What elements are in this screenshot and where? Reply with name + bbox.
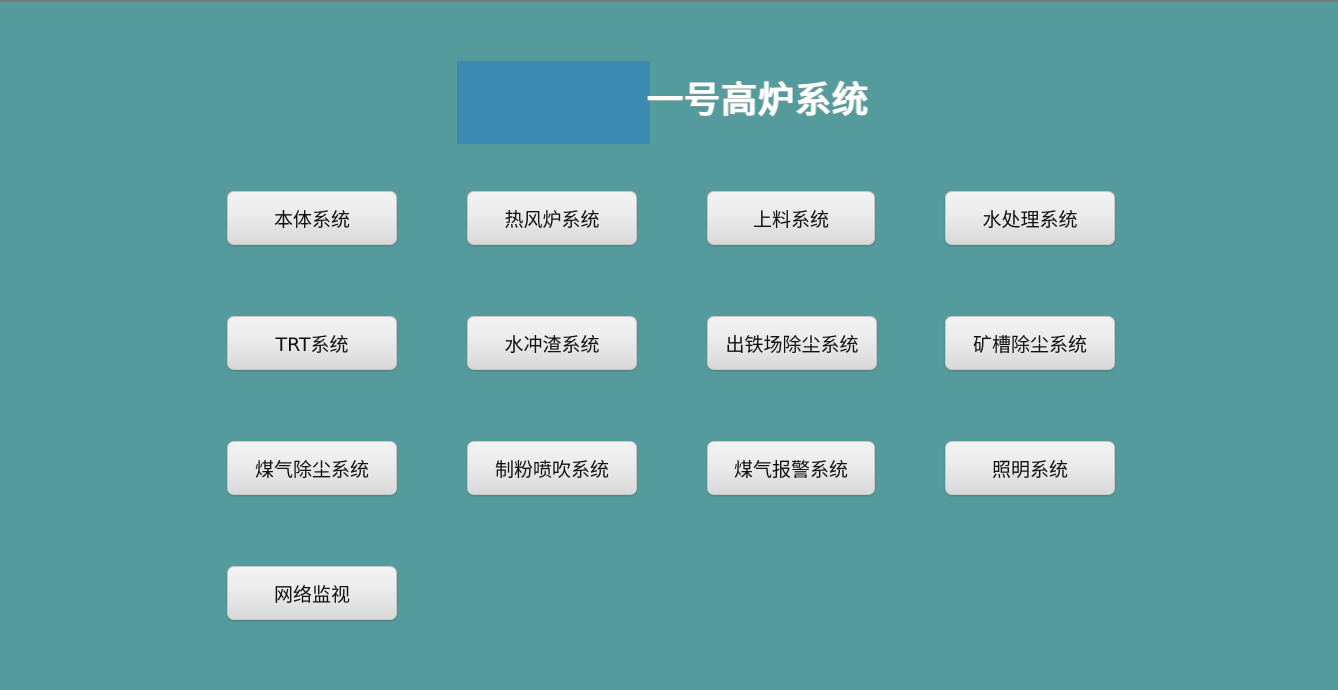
sidebar-item-pulverized-coal-injection-system[interactable]: 制粉喷吹系统 (467, 441, 637, 495)
sidebar-item-network-monitoring[interactable]: 网络监视 (227, 566, 397, 620)
sidebar-item-trt-system[interactable]: TRT系统 (227, 316, 397, 370)
sidebar-item-lighting-system[interactable]: 照明系统 (945, 441, 1115, 495)
sidebar-item-hot-blast-stove-system[interactable]: 热风炉系统 (467, 191, 637, 245)
sidebar-item-gas-alarm-system[interactable]: 煤气报警系统 (707, 441, 875, 495)
button-row-3: 煤气除尘系统 制粉喷吹系统 煤气报警系统 照明系统 (0, 441, 1338, 495)
sidebar-item-slag-flushing-system[interactable]: 水冲渣系统 (467, 316, 637, 370)
system-button-grid: 本体系统 热风炉系统 上料系统 水处理系统 TRT系统 水冲渣系统 出铁场除尘系… (0, 2, 1338, 690)
application-window: 一号高炉系统 本体系统 热风炉系统 上料系统 水处理系统 TRT系统 水冲渣系统… (0, 0, 1338, 690)
sidebar-item-ore-bin-dedusting-system[interactable]: 矿槽除尘系统 (945, 316, 1115, 370)
button-row-1: 本体系统 热风炉系统 上料系统 水处理系统 (0, 191, 1338, 245)
sidebar-item-main-body-system[interactable]: 本体系统 (227, 191, 397, 245)
button-row-4: 网络监视 (0, 566, 1338, 620)
sidebar-item-water-treatment-system[interactable]: 水处理系统 (945, 191, 1115, 245)
sidebar-item-charging-system[interactable]: 上料系统 (707, 191, 875, 245)
sidebar-item-gas-dedusting-system[interactable]: 煤气除尘系统 (227, 441, 397, 495)
button-row-2: TRT系统 水冲渣系统 出铁场除尘系统 矿槽除尘系统 (0, 316, 1338, 370)
sidebar-item-casthouse-dedusting-system[interactable]: 出铁场除尘系统 (707, 316, 877, 370)
